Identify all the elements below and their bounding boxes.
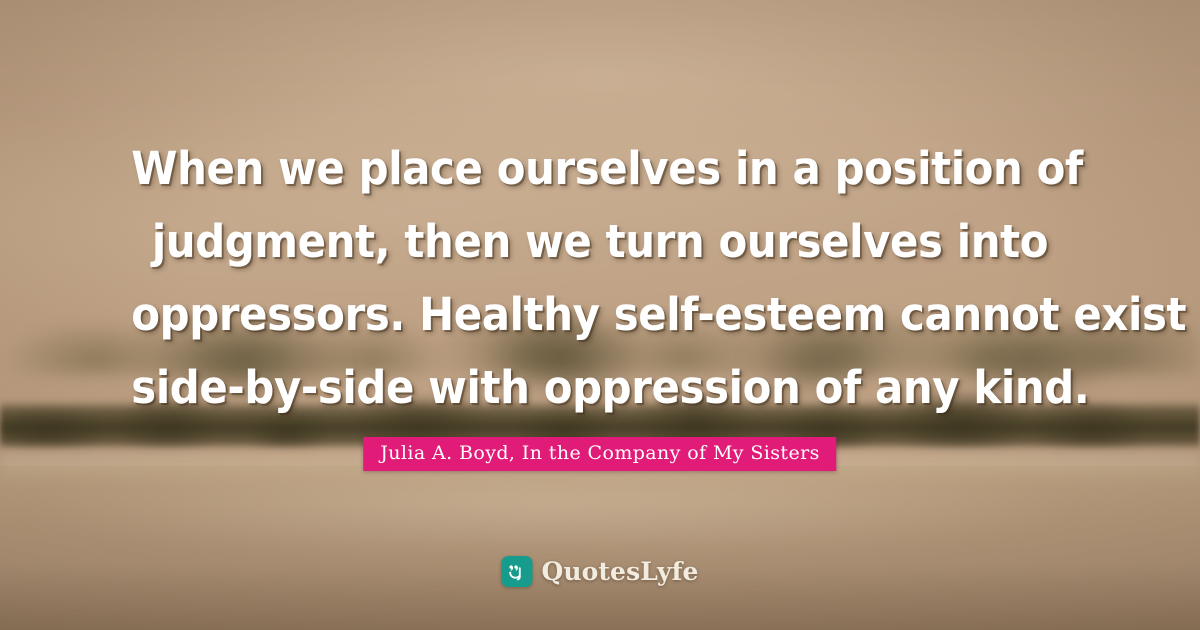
- quote-line: side-by-side with oppression of any kind…: [131, 351, 1068, 424]
- quote-line: When we place ourselves in a position of: [131, 132, 1068, 205]
- attribution-band: Julia A. Boyd, In the Company of My Sist…: [363, 437, 836, 471]
- quote-line: oppressors. Healthy self-esteem cannot e…: [131, 278, 1068, 351]
- brand-name: QuotesLyfe: [541, 559, 698, 584]
- quote-line: judgment, then we turn ourselves into: [131, 205, 1068, 278]
- quote-card: When we place ourselves in a position of…: [0, 0, 1200, 630]
- quote-text-block: When we place ourselves in a position of…: [0, 132, 1200, 424]
- card-content: When we place ourselves in a position of…: [0, 0, 1200, 630]
- brand-logo[interactable]: QuotesLyfe: [501, 556, 698, 587]
- quote-smiley-icon: [501, 556, 532, 587]
